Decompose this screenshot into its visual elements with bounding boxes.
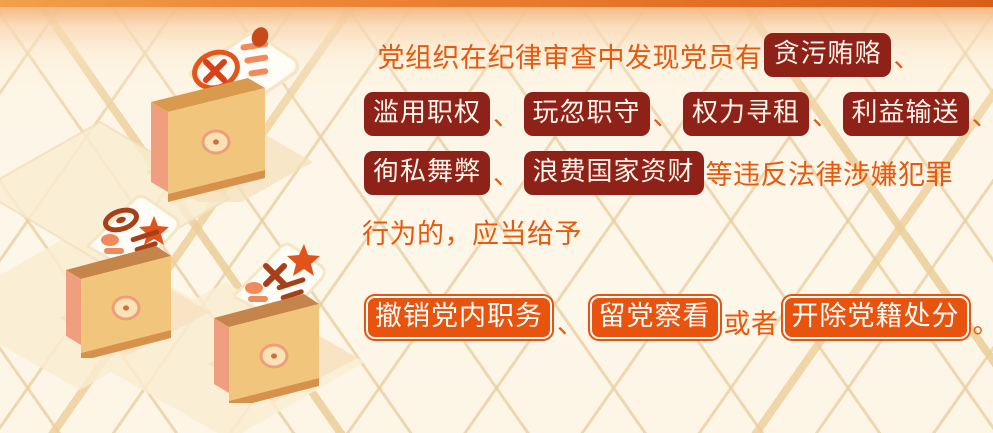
line3-separator-1: 、 [492, 153, 522, 192]
line3-tail-text: 等违反法律涉嫌犯罪 [706, 153, 954, 192]
penalty-tag-liudangchakan: 留党察看 [588, 294, 722, 341]
line1-lead-text: 党组织在纪律审查中发现党员有 [377, 36, 762, 75]
banner-line-2: 滥用职权 、 玩忽职守 、 权力寻租 、 利益输送 、 [362, 84, 922, 143]
offense-tag-wanhuzhishou: 玩忽职守 [524, 92, 650, 136]
offense-tag-lanyongzhiquan: 滥用职权 [364, 92, 490, 136]
line5-separator-1: 、 [556, 302, 586, 341]
folder-body [66, 246, 171, 358]
offense-tag-xusiwubi: 徇私舞弊 [364, 151, 490, 195]
offense-tag-langfeiguojiazicai: 浪费国家资财 [524, 151, 704, 195]
offense-tag-quanlixunzu: 权力寻租 [683, 92, 809, 136]
penalty-tag-kaichudangjichufen: 开除党籍处分 [781, 294, 971, 341]
penalty-tag-chexiaodangneizhiwu: 撤销党内职务 [364, 294, 554, 341]
illustration-folder-top [128, 22, 318, 202]
line4-text: 行为的，应当给予 [362, 212, 582, 251]
top-accent-bar [0, 0, 993, 7]
banner-line-4: 行为的，应当给予 [362, 202, 922, 261]
banner-line-1: 党组织在纪律审查中发现党员有 贪污贿赂 、 [362, 26, 922, 84]
line2-separator-3: 、 [811, 94, 841, 133]
line2-separator-4: 、 [971, 94, 993, 133]
line2-separator-2: 、 [652, 94, 682, 133]
folder-body [214, 294, 319, 403]
offense-tag-tanwuhuilu: 贪污贿赂 [764, 33, 890, 77]
banner-line-3: 徇私舞弊 、 浪费国家资财 等违反法律涉嫌犯罪 [362, 143, 922, 202]
offense-tag-liyishusong: 利益输送 [843, 92, 969, 136]
illustration-folder-bottom [196, 238, 376, 403]
banner-text-block: 党组织在纪律审查中发现党员有 贪污贿赂 、 滥用职权 、 玩忽职守 、 权力寻租… [362, 26, 922, 386]
banner-line-5: 撤销党内职务 、 留党察看 或者 开除党籍处分 。 [362, 261, 922, 349]
line2-separator-1: 、 [492, 94, 522, 133]
banner-canvas: 党组织在纪律审查中发现党员有 贪污贿赂 、 滥用职权 、 玩忽职守 、 权力寻租… [0, 0, 993, 433]
line5-period: 。 [973, 302, 993, 341]
line5-conjunction: 或者 [724, 302, 779, 341]
line1-separator: 、 [893, 36, 923, 75]
